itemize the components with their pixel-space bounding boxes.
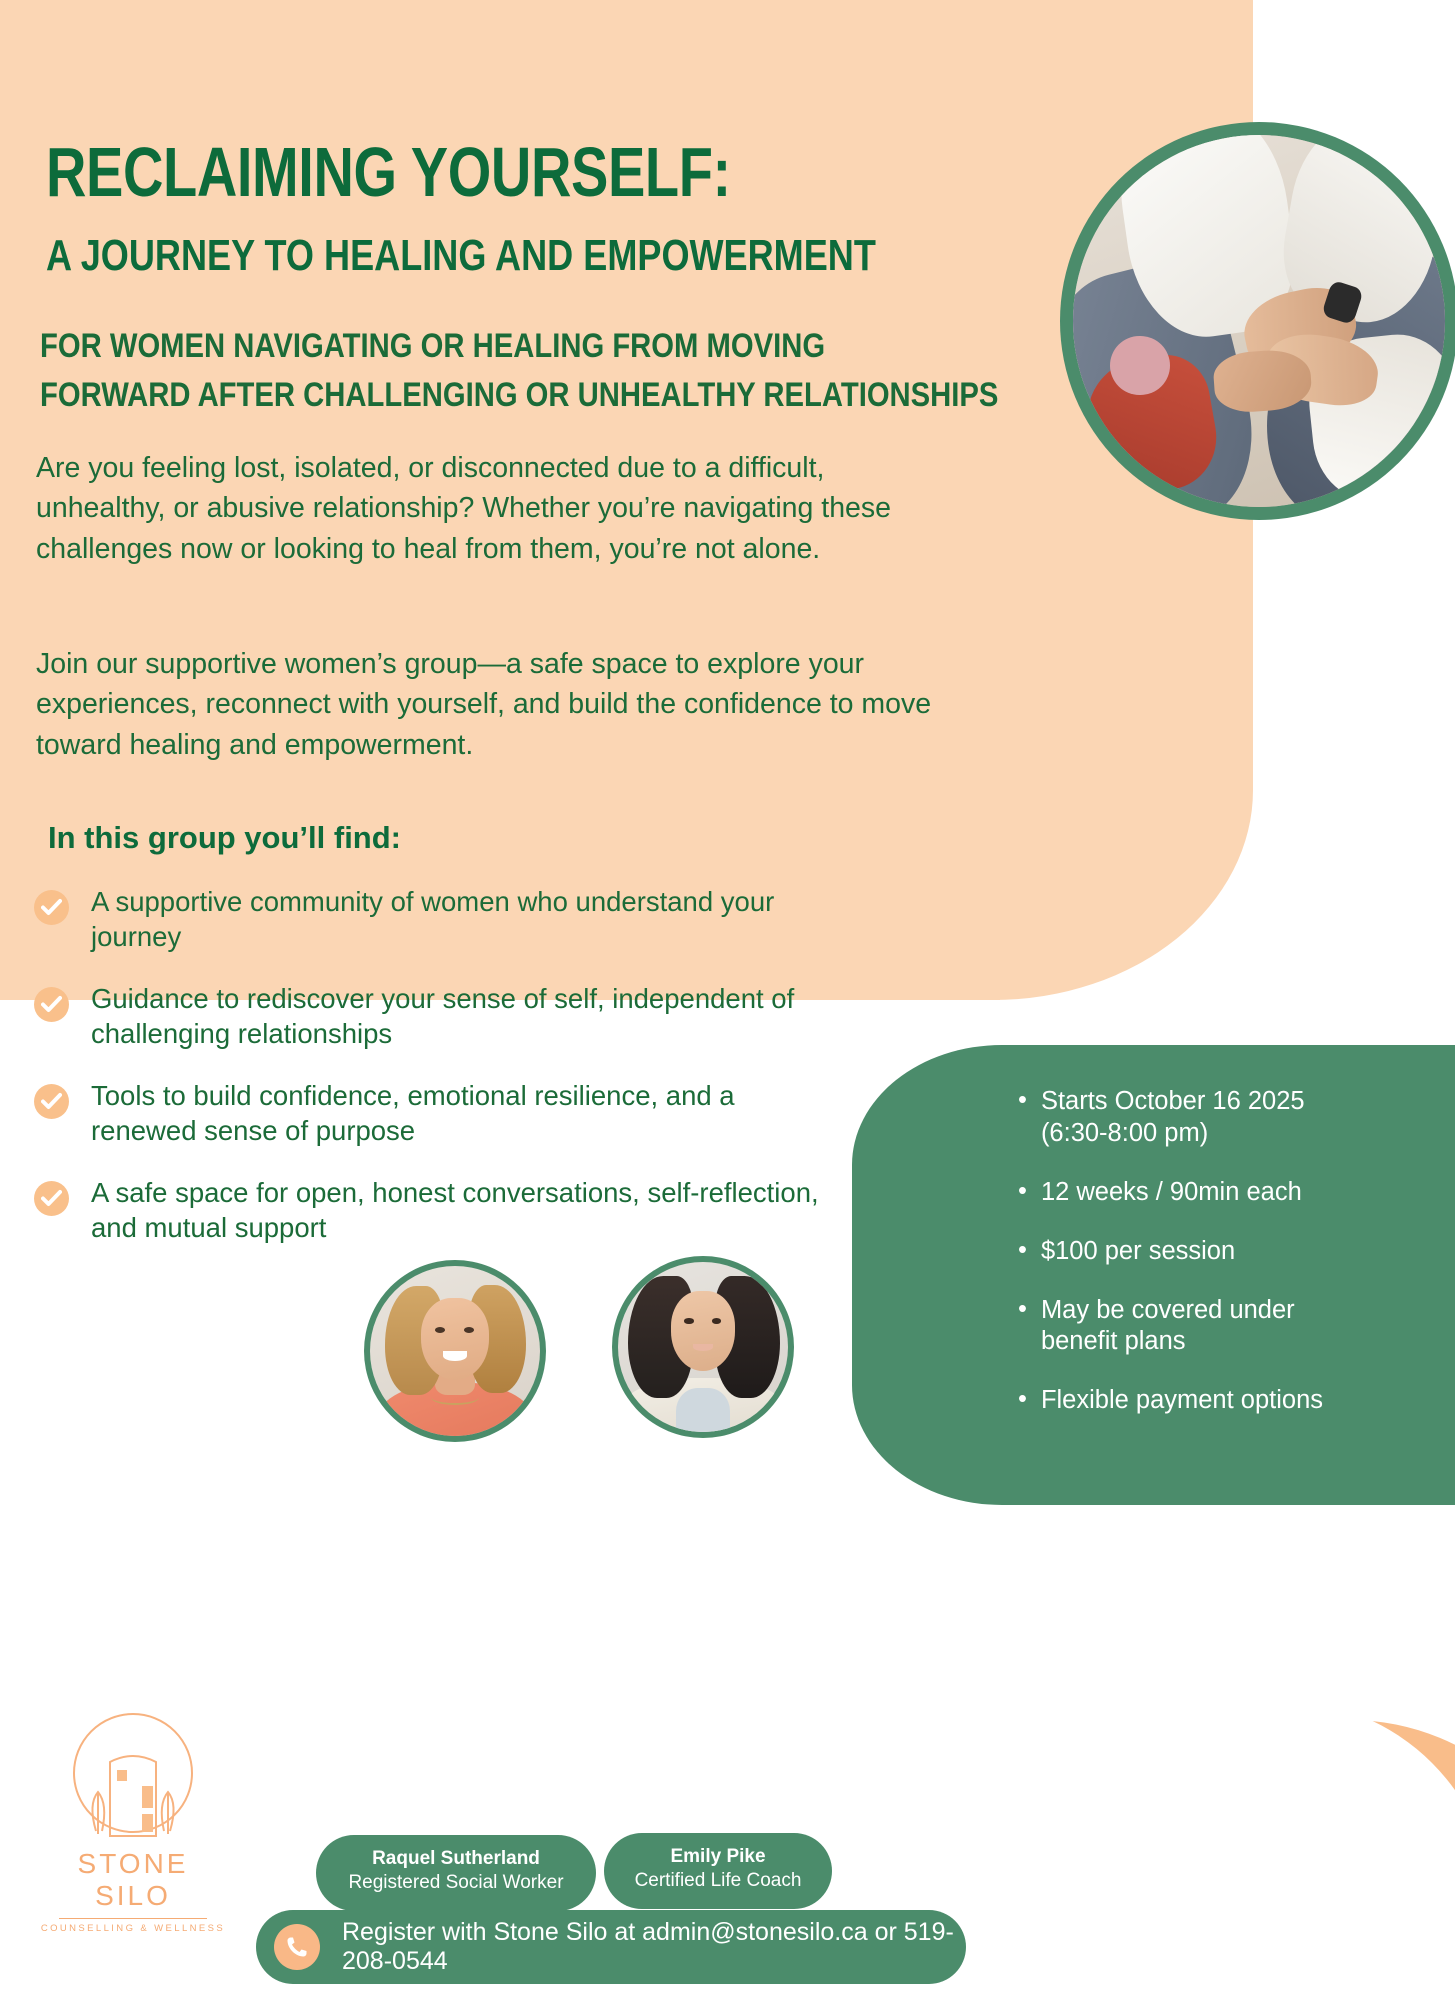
detail-item-label: 12 weeks / 90min each (1041, 1177, 1302, 1209)
avatar-face (671, 1291, 736, 1371)
check-circle-icon (34, 1181, 69, 1216)
hero-photo (1060, 122, 1455, 520)
detail-item: • Starts October 16 2025 (6:30-8:00 pm) (1018, 1086, 1348, 1150)
practitioner-badge-emily: Emily Pike Certified Life Coach (604, 1833, 832, 1909)
list-item: A safe space for open, honest conversati… (34, 1175, 824, 1246)
list-item: A supportive community of women who unde… (34, 884, 824, 955)
avatar-inner-top (676, 1388, 730, 1432)
practitioner-name: Raquel Sutherland (342, 1847, 570, 1871)
list-item: Guidance to rediscover your sense of sel… (34, 981, 824, 1052)
practitioner-name: Emily Pike (630, 1845, 806, 1869)
avatar-raquel-sutherland (364, 1260, 546, 1442)
poster-audience: FOR WOMEN NAVIGATING OR HEALING FROM MOV… (40, 322, 952, 421)
bullet-glyph: • (1018, 1295, 1027, 1323)
avatar-image (370, 1266, 540, 1436)
register-cta-text: Register with Stone Silo at admin@stones… (342, 1918, 966, 1976)
bullet-glyph: • (1018, 1177, 1027, 1205)
bullet-glyph: • (1018, 1236, 1027, 1264)
detail-item: • May be covered under benefit plans (1018, 1295, 1348, 1359)
detail-item: • Flexible payment options (1018, 1385, 1348, 1417)
stone-silo-logo-icon (60, 1700, 206, 1846)
register-cta-bar[interactable]: Register with Stone Silo at admin@stones… (256, 1910, 966, 1984)
practitioner-badge-raquel: Raquel Sutherland Registered Social Work… (316, 1835, 596, 1911)
poster-canvas: RECLAIMING YOURSELF: A JOURNEY TO HEALIN… (0, 0, 1455, 2000)
intro-paragraph-2: Join our supportive women’s group—a safe… (36, 644, 936, 765)
logo-tagline: COUNSELLING & WELLNESS (38, 1923, 228, 1934)
avatar-eye-right (712, 1318, 722, 1323)
group-benefits-list: A supportive community of women who unde… (34, 884, 824, 1272)
check-circle-icon (34, 1084, 69, 1119)
avatar-face (421, 1298, 489, 1380)
list-item-label: A safe space for open, honest conversati… (91, 1175, 824, 1246)
avatar-emily-pike (612, 1256, 794, 1438)
logo-divider (59, 1918, 207, 1919)
detail-item-label: May be covered under benefit plans (1041, 1295, 1348, 1359)
check-circle-icon (34, 987, 69, 1022)
poster-title: RECLAIMING YOURSELF: (46, 140, 766, 204)
bullet-glyph: • (1018, 1385, 1027, 1413)
avatar-image (618, 1262, 788, 1432)
avatar-eye-right (464, 1327, 474, 1333)
poster-subtitle: A JOURNEY TO HEALING AND EMPOWERMENT (46, 234, 866, 278)
list-item-label: A supportive community of women who unde… (91, 884, 824, 955)
audience-line-1: FOR WOMEN NAVIGATING OR HEALING FROM MOV… (40, 322, 952, 371)
session-details-list: • Starts October 16 2025 (6:30-8:00 pm) … (1018, 1086, 1348, 1444)
intro-paragraph-1: Are you feeling lost, isolated, or disco… (36, 448, 926, 569)
avatar-eye-left (684, 1318, 694, 1323)
detail-item-label: $100 per session (1041, 1236, 1235, 1268)
avatar-eye-left (435, 1327, 445, 1333)
phone-icon (274, 1924, 320, 1970)
detail-item-label: Starts October 16 2025 (6:30-8:00 pm) (1041, 1086, 1348, 1150)
practitioner-role: Registered Social Worker (342, 1871, 570, 1896)
list-item: Tools to build confidence, emotional res… (34, 1078, 824, 1149)
photo-pink-sleeve (1110, 336, 1170, 396)
list-item-label: Tools to build confidence, emotional res… (91, 1078, 824, 1149)
detail-item: • $100 per session (1018, 1236, 1348, 1268)
check-circle-icon (34, 890, 69, 925)
hero-photo-image (1073, 135, 1445, 507)
detail-item: • 12 weeks / 90min each (1018, 1177, 1348, 1209)
audience-line-2: FORWARD AFTER CHALLENGING OR UNHEALTHY R… (40, 371, 952, 420)
list-item-label: Guidance to rediscover your sense of sel… (91, 981, 824, 1052)
detail-item-label: Flexible payment options (1041, 1385, 1323, 1417)
practitioner-role: Certified Life Coach (630, 1869, 806, 1894)
logo-wordmark: STONE SILO (38, 1848, 228, 1912)
brand-logo: STONE SILO COUNSELLING & WELLNESS (38, 1700, 228, 1934)
bullet-glyph: • (1018, 1086, 1027, 1114)
decorative-swoosh-mask (1065, 1700, 1455, 2000)
group-section-heading: In this group you’ll find: (48, 820, 401, 856)
